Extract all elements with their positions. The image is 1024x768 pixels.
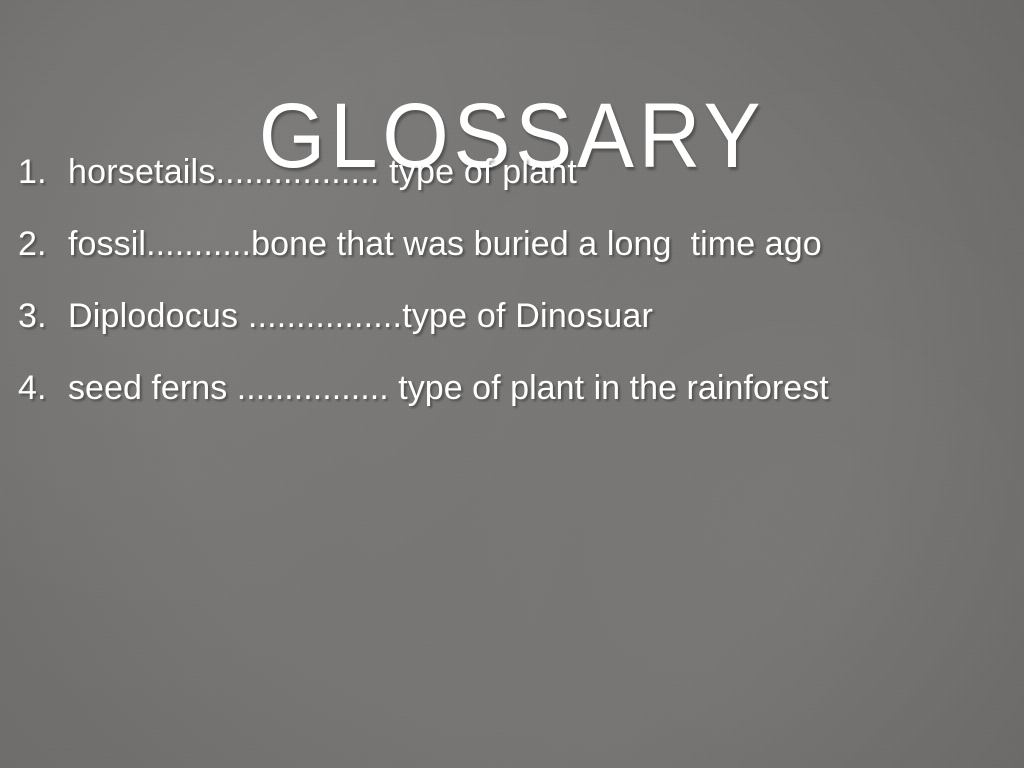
list-item: 2. fossil...........bone that was buried… [0,224,1024,296]
glossary-slide: GLOSSARY 1. horsetails................. … [0,0,1024,768]
list-item-text: seed ferns ................ type of plan… [68,368,829,408]
list-item-number: 2. [18,224,68,264]
list-item: 1. horsetails................. type of p… [0,152,1024,224]
slide-content: GLOSSARY 1. horsetails................. … [0,0,1024,768]
list-item-number: 3. [18,296,68,336]
list-item: 3. Diplodocus ................type of Di… [0,296,1024,368]
list-item-text: fossil...........bone that was buried a … [68,224,822,264]
list-item-number: 1. [18,152,68,192]
glossary-list: 1. horsetails................. type of p… [0,152,1024,440]
list-item-number: 4. [18,368,68,408]
list-item: 4. seed ferns ................ type of p… [0,368,1024,440]
list-item-text: horsetails................. type of plan… [68,152,577,192]
list-item-text: Diplodocus ................type of Dinos… [68,296,653,336]
